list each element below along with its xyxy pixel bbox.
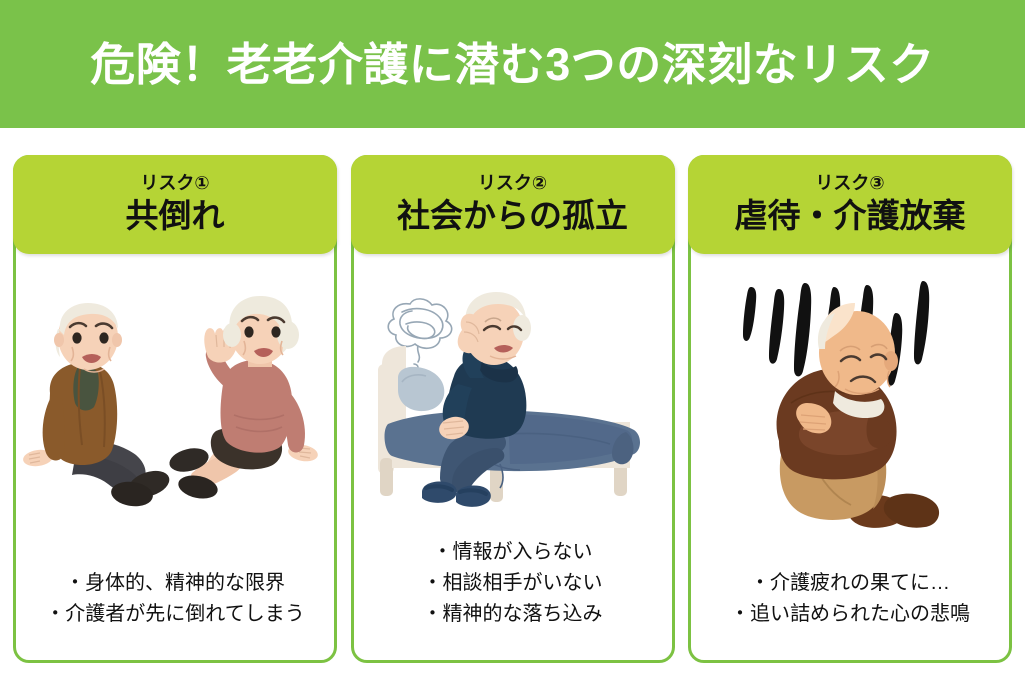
risk-card-1-title: 共倒れ [126,198,225,234]
risk-card-2-illustration [354,257,672,537]
risk-card-1-header: リスク① 共倒れ [13,155,337,254]
risk-card-1-bullets: ・身体的、精神的な限界 ・介護者が先に倒れてしまう [16,568,334,660]
risk-card-1-illustration [16,257,334,568]
risk-card-2: リスク② 社会からの孤立 [351,155,675,663]
risk-card-3-bullets: ・介護疲れの果てに… ・追い詰められた心の悲鳴 [691,568,1009,660]
risk-card-2-bullet-2: ・相談相手がいない [360,568,666,599]
elderly-man-huddled-in-despair-icon [695,275,1005,550]
page-banner: 危険！老老介護に潜む3つの深刻なリスク [0,0,1025,128]
risk-card-2-title: 社会からの孤立 [397,198,628,234]
risk-card-2-kicker: リスク② [478,174,547,194]
risk-card-1-kicker: リスク① [140,174,209,194]
risk-card-2-bullets: ・情報が入らない ・相談相手がいない ・精神的な落ち込み [354,537,672,660]
risk-card-3: リスク③ 虐待・介護放棄 [688,155,1012,663]
risk-card-2-bullet-3: ・精神的な落ち込み [360,599,666,630]
risk-card-3-bullet-2: ・追い詰められた心の悲鳴 [697,599,1003,630]
page-title: 危険！老老介護に潜む3つの深刻なリスク [90,42,935,87]
risk-card-2-header: リスク② 社会からの孤立 [351,155,675,254]
elderly-man-sitting-on-bed-worried-icon [358,272,668,522]
risk-card-1: リスク① 共倒れ [13,155,337,663]
risk-card-3-header: リスク③ 虐待・介護放棄 [688,155,1012,254]
risk-card-3-kicker: リスク③ [815,174,884,194]
risk-card-3-illustration [691,257,1009,568]
risk-card-3-title: 虐待・介護放棄 [735,198,966,234]
risk-card-1-bullet-2: ・介護者が先に倒れてしまう [22,599,328,630]
elderly-couple-collapsed-on-floor-icon [20,295,330,530]
risk-card-1-bullet-1: ・身体的、精神的な限界 [22,568,328,599]
risk-card-2-bullet-1: ・情報が入らない [360,537,666,568]
risk-cards-row: リスク① 共倒れ [0,128,1025,663]
risk-card-3-bullet-1: ・介護疲れの果てに… [697,568,1003,599]
